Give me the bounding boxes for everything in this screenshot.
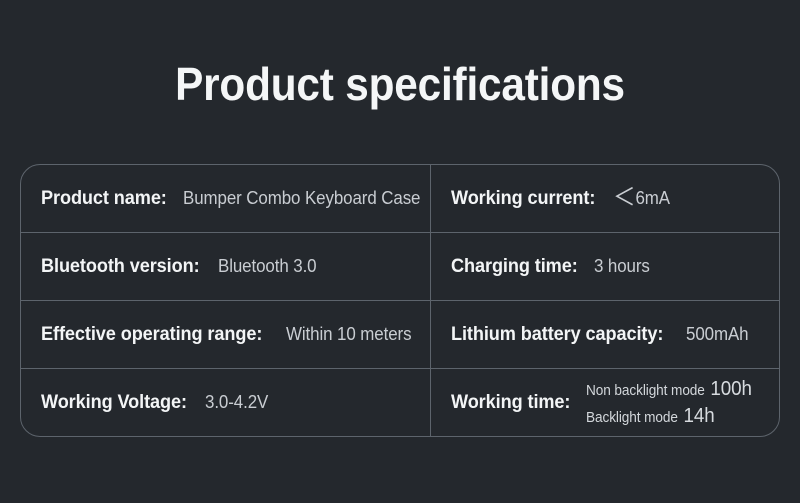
working-time-amount: 14h (684, 405, 715, 428)
spec-value-text: 6mA (636, 188, 671, 208)
spec-value: ＜6mA (613, 188, 670, 209)
spec-cell-working-time: Working time: Non backlight mode 100h Ba… (431, 369, 779, 436)
working-time-line: Backlight mode 14h (586, 405, 752, 428)
working-time-mode: Backlight mode (586, 410, 678, 426)
spec-value: 3.0-4.2V (205, 392, 268, 413)
spec-label: Working Voltage: (41, 391, 187, 414)
spec-label: Effective operating range: (41, 323, 262, 346)
working-time-values: Non backlight mode 100h Backlight mode 1… (586, 378, 762, 428)
spec-label: Lithium battery capacity: (451, 323, 663, 346)
table-row: Product name: Bumper Combo Keyboard Case… (21, 165, 779, 233)
spec-cell-effective-operating-range: Effective operating range: Within 10 met… (21, 301, 431, 368)
spec-value: 3 hours (594, 256, 650, 277)
spec-value: 500mAh (686, 324, 748, 345)
spec-cell-charging-time: Charging time: 3 hours (431, 233, 779, 300)
spec-cell-product-name: Product name: Bumper Combo Keyboard Case (21, 165, 431, 232)
table-row: Effective operating range: Within 10 met… (21, 301, 779, 369)
specifications-table: Product name: Bumper Combo Keyboard Case… (20, 164, 780, 437)
less-than-icon: ＜ (613, 184, 635, 211)
page-title: Product specifications (32, 56, 768, 112)
working-time-amount: 100h (711, 378, 752, 401)
spec-label: Working time: (451, 391, 570, 414)
spec-cell-working-voltage: Working Voltage: 3.0-4.2V (21, 369, 431, 436)
spec-label: Charging time: (451, 255, 578, 278)
spec-label: Working current: (451, 187, 595, 210)
spec-cell-working-current: Working current: ＜6mA (431, 165, 779, 232)
product-specifications-page: Product specifications Product name: Bum… (0, 0, 800, 503)
spec-cell-lithium-battery-capacity: Lithium battery capacity: 500mAh (431, 301, 779, 368)
spec-label: Bluetooth version: (41, 255, 200, 278)
table-row: Bluetooth version: Bluetooth 3.0 Chargin… (21, 233, 779, 301)
spec-value: Bumper Combo Keyboard Case (183, 188, 420, 209)
spec-value: Within 10 meters (286, 324, 411, 345)
working-time-line: Non backlight mode 100h (586, 378, 752, 401)
working-time-mode: Non backlight mode (586, 383, 705, 399)
table-row: Working Voltage: 3.0-4.2V Working time: … (21, 369, 779, 436)
spec-cell-bluetooth-version: Bluetooth version: Bluetooth 3.0 (21, 233, 431, 300)
spec-label: Product name: (41, 187, 167, 210)
spec-value: Bluetooth 3.0 (218, 256, 317, 277)
